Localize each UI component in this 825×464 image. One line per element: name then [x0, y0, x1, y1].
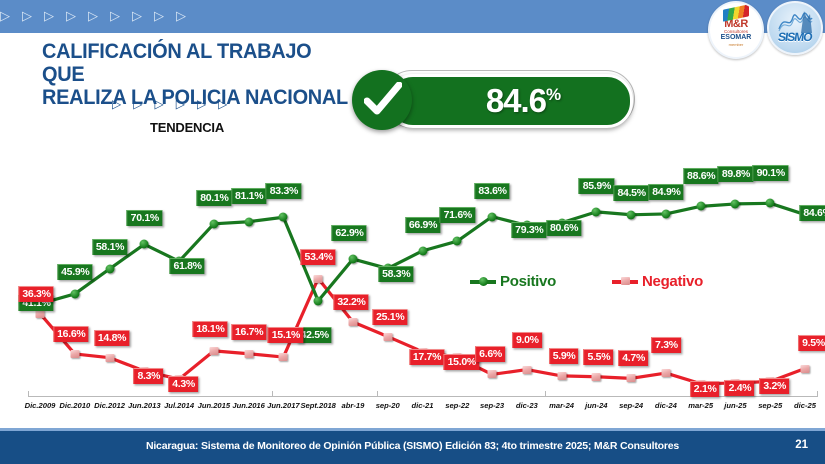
- marker-negativo-13: [488, 370, 497, 378]
- triangle-right-icon: ▷: [112, 98, 121, 111]
- marker-positivo-2: [105, 264, 114, 273]
- data-label-positivo-2: 58.1%: [92, 239, 127, 255]
- triangle-right-icon: ▷: [88, 9, 98, 22]
- data-label-positivo-3: 70.1%: [127, 210, 162, 226]
- x-axis-label-13: sep-23: [480, 401, 504, 410]
- marker-negativo-6: [244, 350, 253, 358]
- marker-negativo-14: [522, 366, 531, 374]
- triangle-right-icon: ▷: [44, 9, 54, 22]
- data-label-positivo-13: 83.6%: [474, 183, 509, 199]
- x-axis-label-19: mar-25: [688, 401, 713, 410]
- triangle-right-icon: ▷: [133, 98, 142, 111]
- data-label-negativo-22: 9.5%: [798, 335, 825, 351]
- marker-negativo-2: [105, 354, 114, 362]
- data-label-negativo-13: 6.6%: [475, 346, 505, 362]
- header-arrow-row: ▷▷▷▷▷▷▷▷▷: [0, 9, 186, 22]
- triangle-right-icon: ▷: [0, 9, 10, 22]
- data-label-negativo-15: 5.9%: [549, 348, 579, 364]
- chart-subtitle: TENDENCIA: [150, 120, 224, 135]
- check-icon: [364, 82, 402, 118]
- data-label-negativo-18: 7.3%: [651, 337, 681, 353]
- x-axis-tick-3: [545, 391, 546, 397]
- triangle-right-icon: ▷: [66, 9, 76, 22]
- x-axis-label-11: dic-21: [412, 401, 434, 410]
- marker-negativo-9: [348, 318, 357, 326]
- badge-circle: [352, 70, 412, 130]
- x-axis-label-20: jun-25: [724, 401, 746, 410]
- marker-negativo-17: [627, 374, 636, 382]
- marker-positivo-3: [140, 240, 149, 249]
- data-label-positivo-21: 90.1%: [753, 165, 788, 181]
- triangle-right-icon: ▷: [110, 9, 120, 22]
- esomar-label: ESOMAR: [721, 34, 752, 42]
- marker-positivo-20: [731, 199, 740, 208]
- legend-item-negativo: Negativo: [612, 273, 703, 290]
- x-axis-label-6: Jun.2016: [232, 401, 265, 410]
- data-label-positivo-14: 79.3%: [511, 222, 546, 238]
- data-label-negativo-10: 25.1%: [372, 309, 407, 325]
- data-label-positivo-20: 89.8%: [718, 166, 753, 182]
- x-axis-label-1: Dic.2010: [59, 401, 90, 410]
- marker-negativo-15: [557, 372, 566, 380]
- marker-negativo-1: [70, 350, 79, 358]
- data-label-positivo-16: 85.9%: [579, 178, 614, 194]
- data-label-positivo-4: 61.8%: [169, 258, 204, 274]
- data-label-negativo-9: 32.2%: [333, 294, 368, 310]
- triangle-right-icon: ▷: [132, 9, 142, 22]
- footer-source-text: Nicaragua: Sistema de Monitoreo de Opini…: [0, 440, 825, 452]
- x-axis-label-18: dic-24: [655, 401, 677, 410]
- title-arrow-row: ▷▷▷▷▷▷: [112, 98, 227, 111]
- data-label-positivo-1: 45.9%: [57, 264, 92, 280]
- top-banner: ▷▷▷▷▷▷▷▷▷: [0, 0, 825, 33]
- x-axis-labels: Dic.2009Dic.2010Dic.2012Jun.2013Jul.2014…: [0, 401, 825, 415]
- triangle-right-icon: ▷: [197, 98, 206, 111]
- legend-label-negativo: Negativo: [642, 273, 703, 290]
- marker-negativo-18: [661, 369, 670, 377]
- x-axis-label-0: Dic.2009: [25, 401, 56, 410]
- badge-pill: 84.6%: [387, 74, 633, 128]
- data-label-negativo-12: 15.0%: [444, 354, 479, 370]
- data-label-positivo-6: 81.1%: [231, 188, 266, 204]
- data-label-positivo-11: 66.9%: [405, 217, 440, 233]
- x-axis-tick-4: [817, 391, 818, 397]
- x-axis-label-17: sep-24: [619, 401, 643, 410]
- marker-positivo-13: [488, 212, 497, 221]
- marker-positivo-5: [209, 219, 218, 228]
- triangle-right-icon: ▷: [22, 9, 32, 22]
- triangle-right-icon: ▷: [176, 98, 185, 111]
- marker-positivo-19: [696, 202, 705, 211]
- data-label-positivo-22: 84.6%: [799, 205, 825, 221]
- x-axis-label-15: mar-24: [549, 401, 574, 410]
- data-label-positivo-19: 88.6%: [683, 168, 718, 184]
- legend-line-negativo: [612, 280, 638, 284]
- data-label-negativo-11: 17.7%: [409, 349, 444, 365]
- triangle-right-icon: ▷: [176, 9, 186, 22]
- data-label-negativo-0: 36.3%: [18, 286, 53, 302]
- x-axis-label-21: sep-25: [758, 401, 782, 410]
- marker-negativo-8: [314, 275, 323, 283]
- data-label-negativo-7: 15.1%: [268, 327, 303, 343]
- marker-positivo-12: [453, 237, 462, 246]
- data-label-negativo-17: 4.7%: [618, 350, 648, 366]
- legend-item-positivo: Positivo: [470, 273, 556, 290]
- x-axis-label-9: abr-19: [342, 401, 365, 410]
- marker-negativo-16: [592, 373, 601, 381]
- sismo-logo-text: SISMO: [777, 30, 813, 44]
- page-title-line1: CALIFICACIÓN AL TRABAJO QUE: [42, 40, 356, 86]
- data-label-negativo-16: 5.5%: [583, 349, 613, 365]
- marker-negativo-22: [801, 365, 810, 373]
- data-label-negativo-1: 16.6%: [53, 326, 88, 342]
- footer-bar: Nicaragua: Sistema de Monitoreo de Opini…: [0, 431, 825, 464]
- triangle-right-icon: ▷: [218, 98, 227, 111]
- logo-group: M&R Consultores ESOMAR member SISMO: [708, 1, 823, 59]
- esomar-member-label: member: [729, 42, 744, 47]
- marker-negativo-10: [383, 333, 392, 341]
- data-label-negativo-6: 16.7%: [231, 324, 266, 340]
- x-axis-label-10: sep-20: [376, 401, 400, 410]
- marker-negativo-5: [209, 347, 218, 355]
- trend-chart: 41.1%45.9%58.1%70.1%61.8%80.1%81.1%83.3%…: [0, 140, 825, 405]
- x-axis-tick-0: [28, 391, 29, 397]
- badge-percent-sign: %: [546, 85, 560, 104]
- data-label-positivo-18: 84.9%: [648, 184, 683, 200]
- marker-positivo-16: [592, 207, 601, 216]
- data-label-negativo-21: 3.2%: [759, 378, 789, 394]
- marker-positivo-7: [279, 213, 288, 222]
- x-axis-tick-2: [377, 391, 378, 397]
- data-label-negativo-2: 14.8%: [94, 330, 129, 346]
- marker-positivo-6: [244, 217, 253, 226]
- x-axis-label-22: dic-25: [794, 401, 816, 410]
- marker-positivo-1: [70, 289, 79, 298]
- legend-line-positivo: [470, 280, 496, 284]
- data-label-positivo-17: 84.5%: [613, 185, 648, 201]
- data-label-positivo-7: 83.3%: [266, 183, 301, 199]
- marker-positivo-18: [661, 209, 670, 218]
- data-label-positivo-15: 80.6%: [546, 220, 581, 236]
- highlight-badge: 84.6%: [352, 70, 632, 128]
- x-axis-label-2: Dic.2012: [94, 401, 125, 410]
- triangle-right-icon: ▷: [154, 98, 163, 111]
- data-label-negativo-5: 18.1%: [192, 321, 227, 337]
- marker-positivo-9: [348, 255, 357, 264]
- x-axis-label-7: Jun.2017: [267, 401, 300, 410]
- data-label-positivo-10: 58.3%: [378, 266, 413, 282]
- data-label-negativo-8: 53.4%: [301, 249, 336, 265]
- x-axis-label-14: dic-23: [516, 401, 538, 410]
- marker-negativo-0: [36, 310, 45, 318]
- x-axis-label-5: Jun.2015: [198, 401, 231, 410]
- data-label-positivo-5: 80.1%: [196, 190, 231, 206]
- mr-consultores-esomar-logo: M&R Consultores ESOMAR member: [708, 1, 764, 59]
- marker-positivo-21: [766, 199, 775, 208]
- legend-square-marker-icon: [621, 277, 630, 285]
- x-axis-label-12: sep-22: [445, 401, 469, 410]
- x-axis-label-3: Jun.2013: [128, 401, 161, 410]
- badge-value: 84.6%: [486, 82, 560, 120]
- data-label-positivo-9: 62.9%: [331, 225, 366, 241]
- x-axis-tick-1: [272, 391, 273, 397]
- legend-circle-marker-icon: [479, 277, 488, 286]
- footer-page-number: 21: [795, 439, 808, 451]
- sismo-logo: SISMO: [767, 1, 823, 55]
- marker-positivo-17: [627, 210, 636, 219]
- data-label-negativo-4: 4.3%: [168, 376, 198, 392]
- badge-number: 84.6: [486, 82, 546, 119]
- x-axis-label-4: Jul.2014: [164, 401, 194, 410]
- marker-positivo-8: [314, 296, 323, 305]
- data-label-positivo-12: 71.6%: [440, 207, 475, 223]
- data-label-negativo-20: 2.4%: [725, 380, 755, 396]
- triangle-right-icon: ▷: [154, 9, 164, 22]
- x-axis-label-8: Sept.2018: [300, 401, 335, 410]
- data-label-negativo-3: 8.3%: [133, 368, 163, 384]
- legend-label-positivo: Positivo: [500, 273, 556, 290]
- data-label-negativo-14: 9.0%: [512, 332, 542, 348]
- data-label-negativo-19: 2.1%: [690, 381, 720, 397]
- marker-negativo-7: [279, 353, 288, 361]
- x-axis-label-16: jun-24: [585, 401, 607, 410]
- marker-positivo-11: [418, 246, 427, 255]
